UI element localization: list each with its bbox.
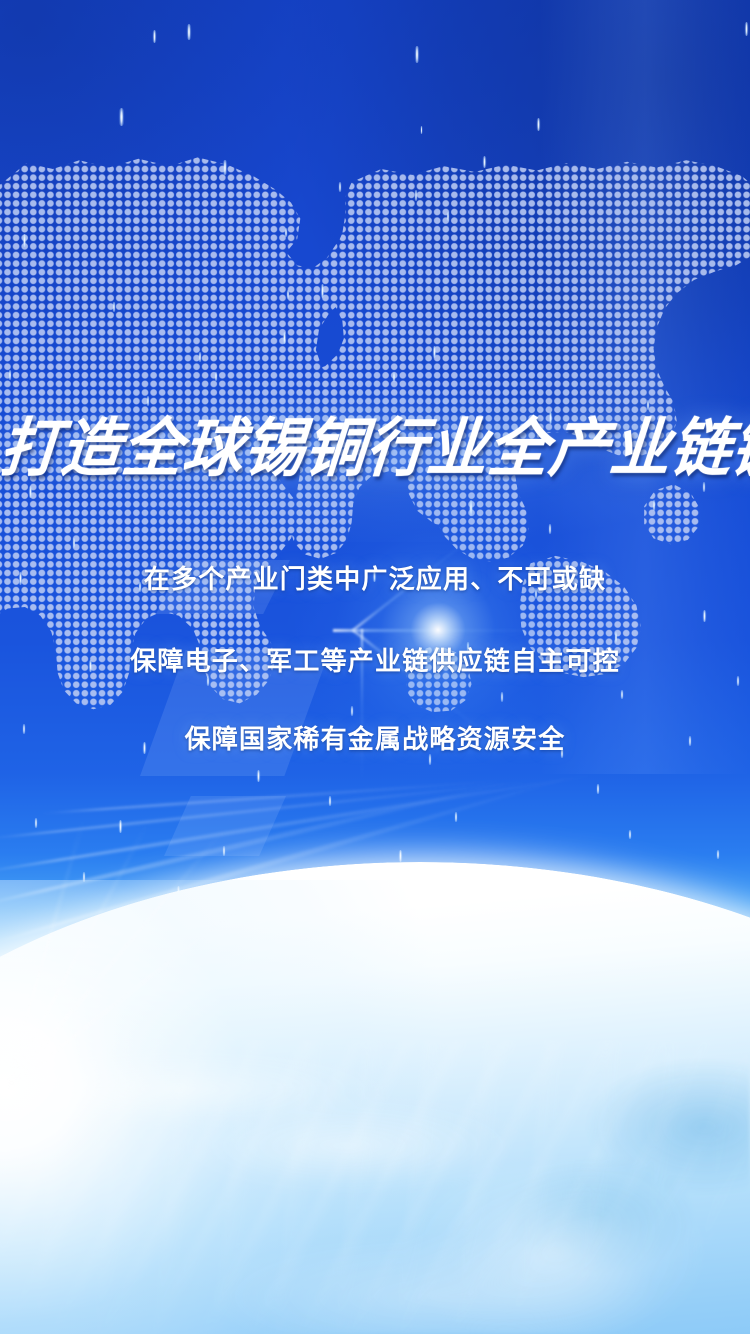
subtitle-line-1: 在多个产业门类中广泛应用、不可或缺 [0,566,750,592]
sun-glare [0,880,440,1334]
sparkle-star [414,46,420,63]
sparkle-star [186,24,192,40]
subtitle-line-2: 保障电子、军工等产业链供应链自主可控 [0,648,750,674]
sparkle-star [152,30,157,43]
sparkle-star [744,22,749,36]
subtitle-line-3: 保障国家稀有金属战略资源安全 [0,726,750,752]
promotional-poster: 打造全球锡铜行业全产业链链主 在多个产业门类中广泛应用、不可或缺 保障电子、军工… [0,0,750,1334]
page-title: 打造全球锡铜行业全产业链链主 [0,416,750,483]
subtitle-list: 在多个产业门类中广泛应用、不可或缺 保障电子、军工等产业链供应链自主可控 保障国… [0,556,750,752]
